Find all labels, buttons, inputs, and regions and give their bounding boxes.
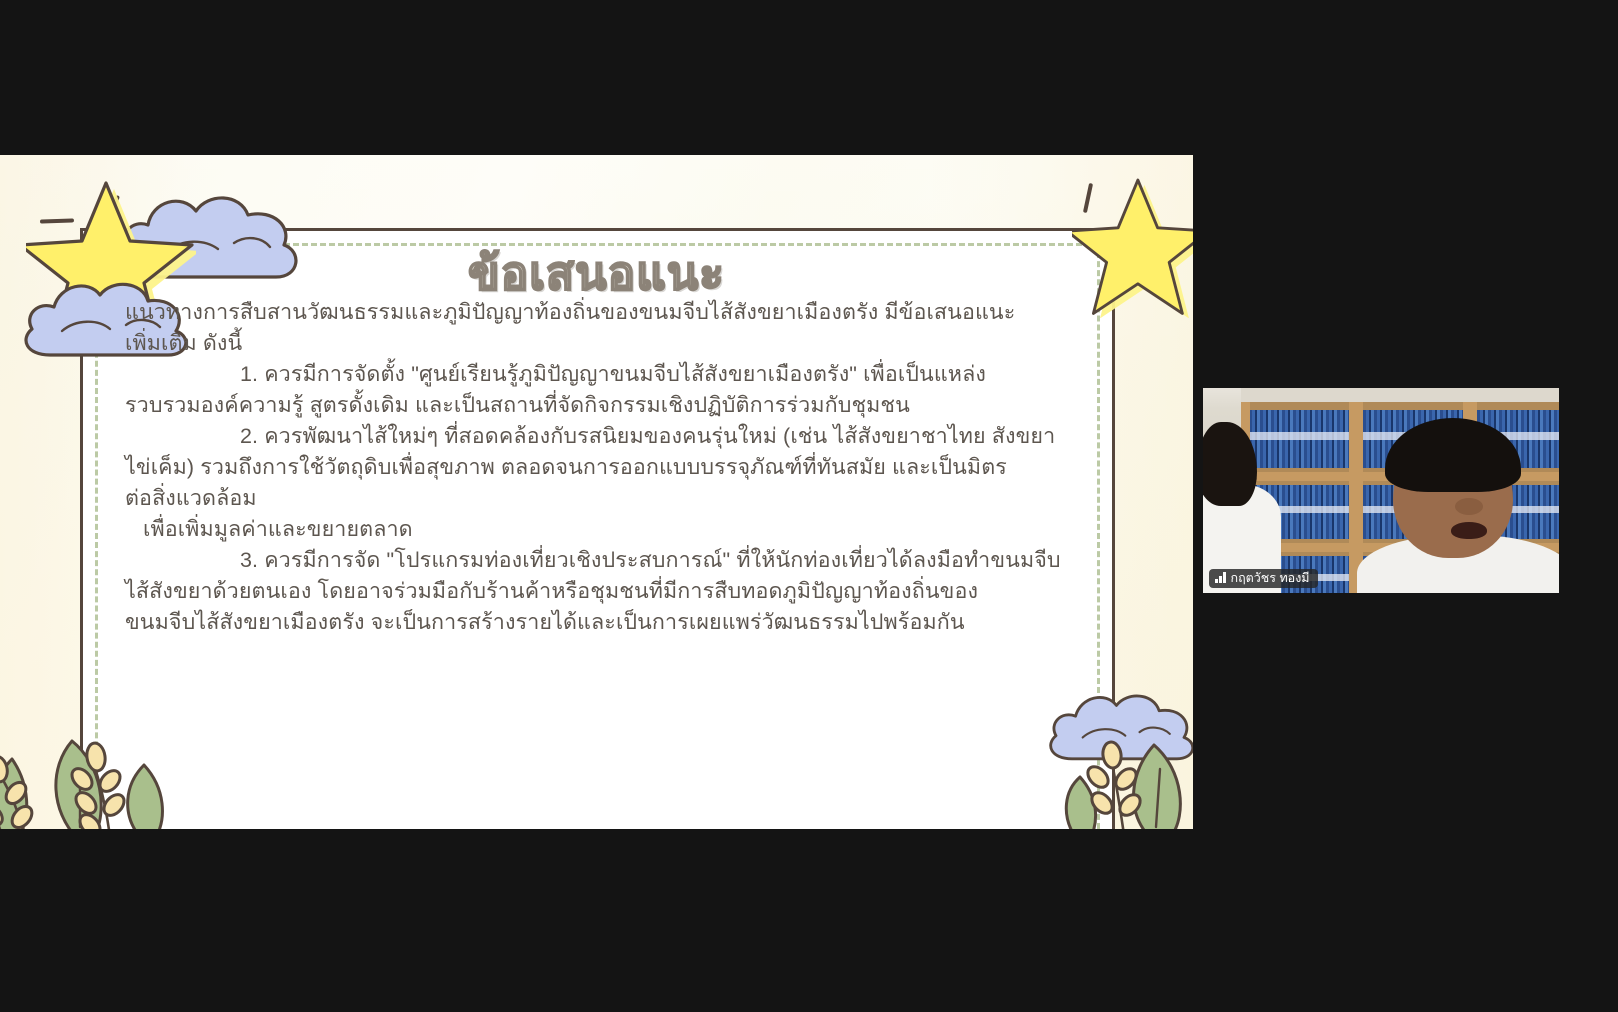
slide-body-line: 3. ควรมีการจัด "โปรแกรมท่องเที่ยวเชิงประ…: [125, 545, 1090, 576]
participant-video-tile[interactable]: กฤตวัชร ทองมี: [1203, 388, 1559, 593]
participant-name: กฤตวัชร ทองมี: [1231, 572, 1310, 585]
participant-name-label: กฤตวัชร ทองมี: [1209, 569, 1318, 589]
meeting-screen: ข้อเสนอแนะ แนวทางการสืบสานวัฒนธรรมและภูม…: [0, 0, 1618, 1012]
corner-dash-tl-1: [108, 195, 120, 221]
slide-body-line: ต่อสิ่งแวดล้อม: [125, 483, 1090, 514]
corner-dash-tr-1: [1083, 183, 1093, 213]
presentation-slide[interactable]: ข้อเสนอแนะ แนวทางการสืบสานวัฒนธรรมและภูม…: [0, 155, 1193, 829]
slide-body-line: 2. ควรพัฒนาไส้ใหม่ๆ ที่สอดคล้องกับรสนิยม…: [125, 421, 1090, 452]
slide-body-line: แนวทางการสืบสานวัฒนธรรมและภูมิปัญญาท้องถ…: [125, 297, 1090, 328]
participant-secondary: [1203, 422, 1289, 593]
signal-bars-icon: [1215, 572, 1226, 583]
slide-body-line: รวบรวมองค์ความรู้ สูตรดั้งเดิม และเป็นสถ…: [125, 390, 1090, 421]
participant-speaker: [1375, 418, 1559, 593]
slide-body-line: ขนมจีบไส้สังขยาเมืองตรัง จะเป็นการสร้างร…: [125, 607, 1090, 638]
slide-body-line: เพื่อเพิ่มมูลค่าและขยายตลาด: [125, 514, 1090, 545]
slide-body-line: ไส้สังขยาด้วยตนเอง โดยอาจร่วมมือกับร้านค…: [125, 576, 1090, 607]
slide-body-line: ไข่เค็ม) รวมถึงการใช้วัตถุดิบเพื่อสุขภาพ…: [125, 452, 1090, 483]
slide-body: แนวทางการสืบสานวัฒนธรรมและภูมิปัญญาท้องถ…: [125, 297, 1090, 638]
slide-body-line: 1. ควรมีการจัดตั้ง "ศูนย์เรียนรู้ภูมิปัญ…: [125, 359, 1090, 390]
slide-body-line: เพิ่มเติม ดังนี้: [125, 328, 1090, 359]
corner-dash-tl-2: [40, 218, 74, 223]
